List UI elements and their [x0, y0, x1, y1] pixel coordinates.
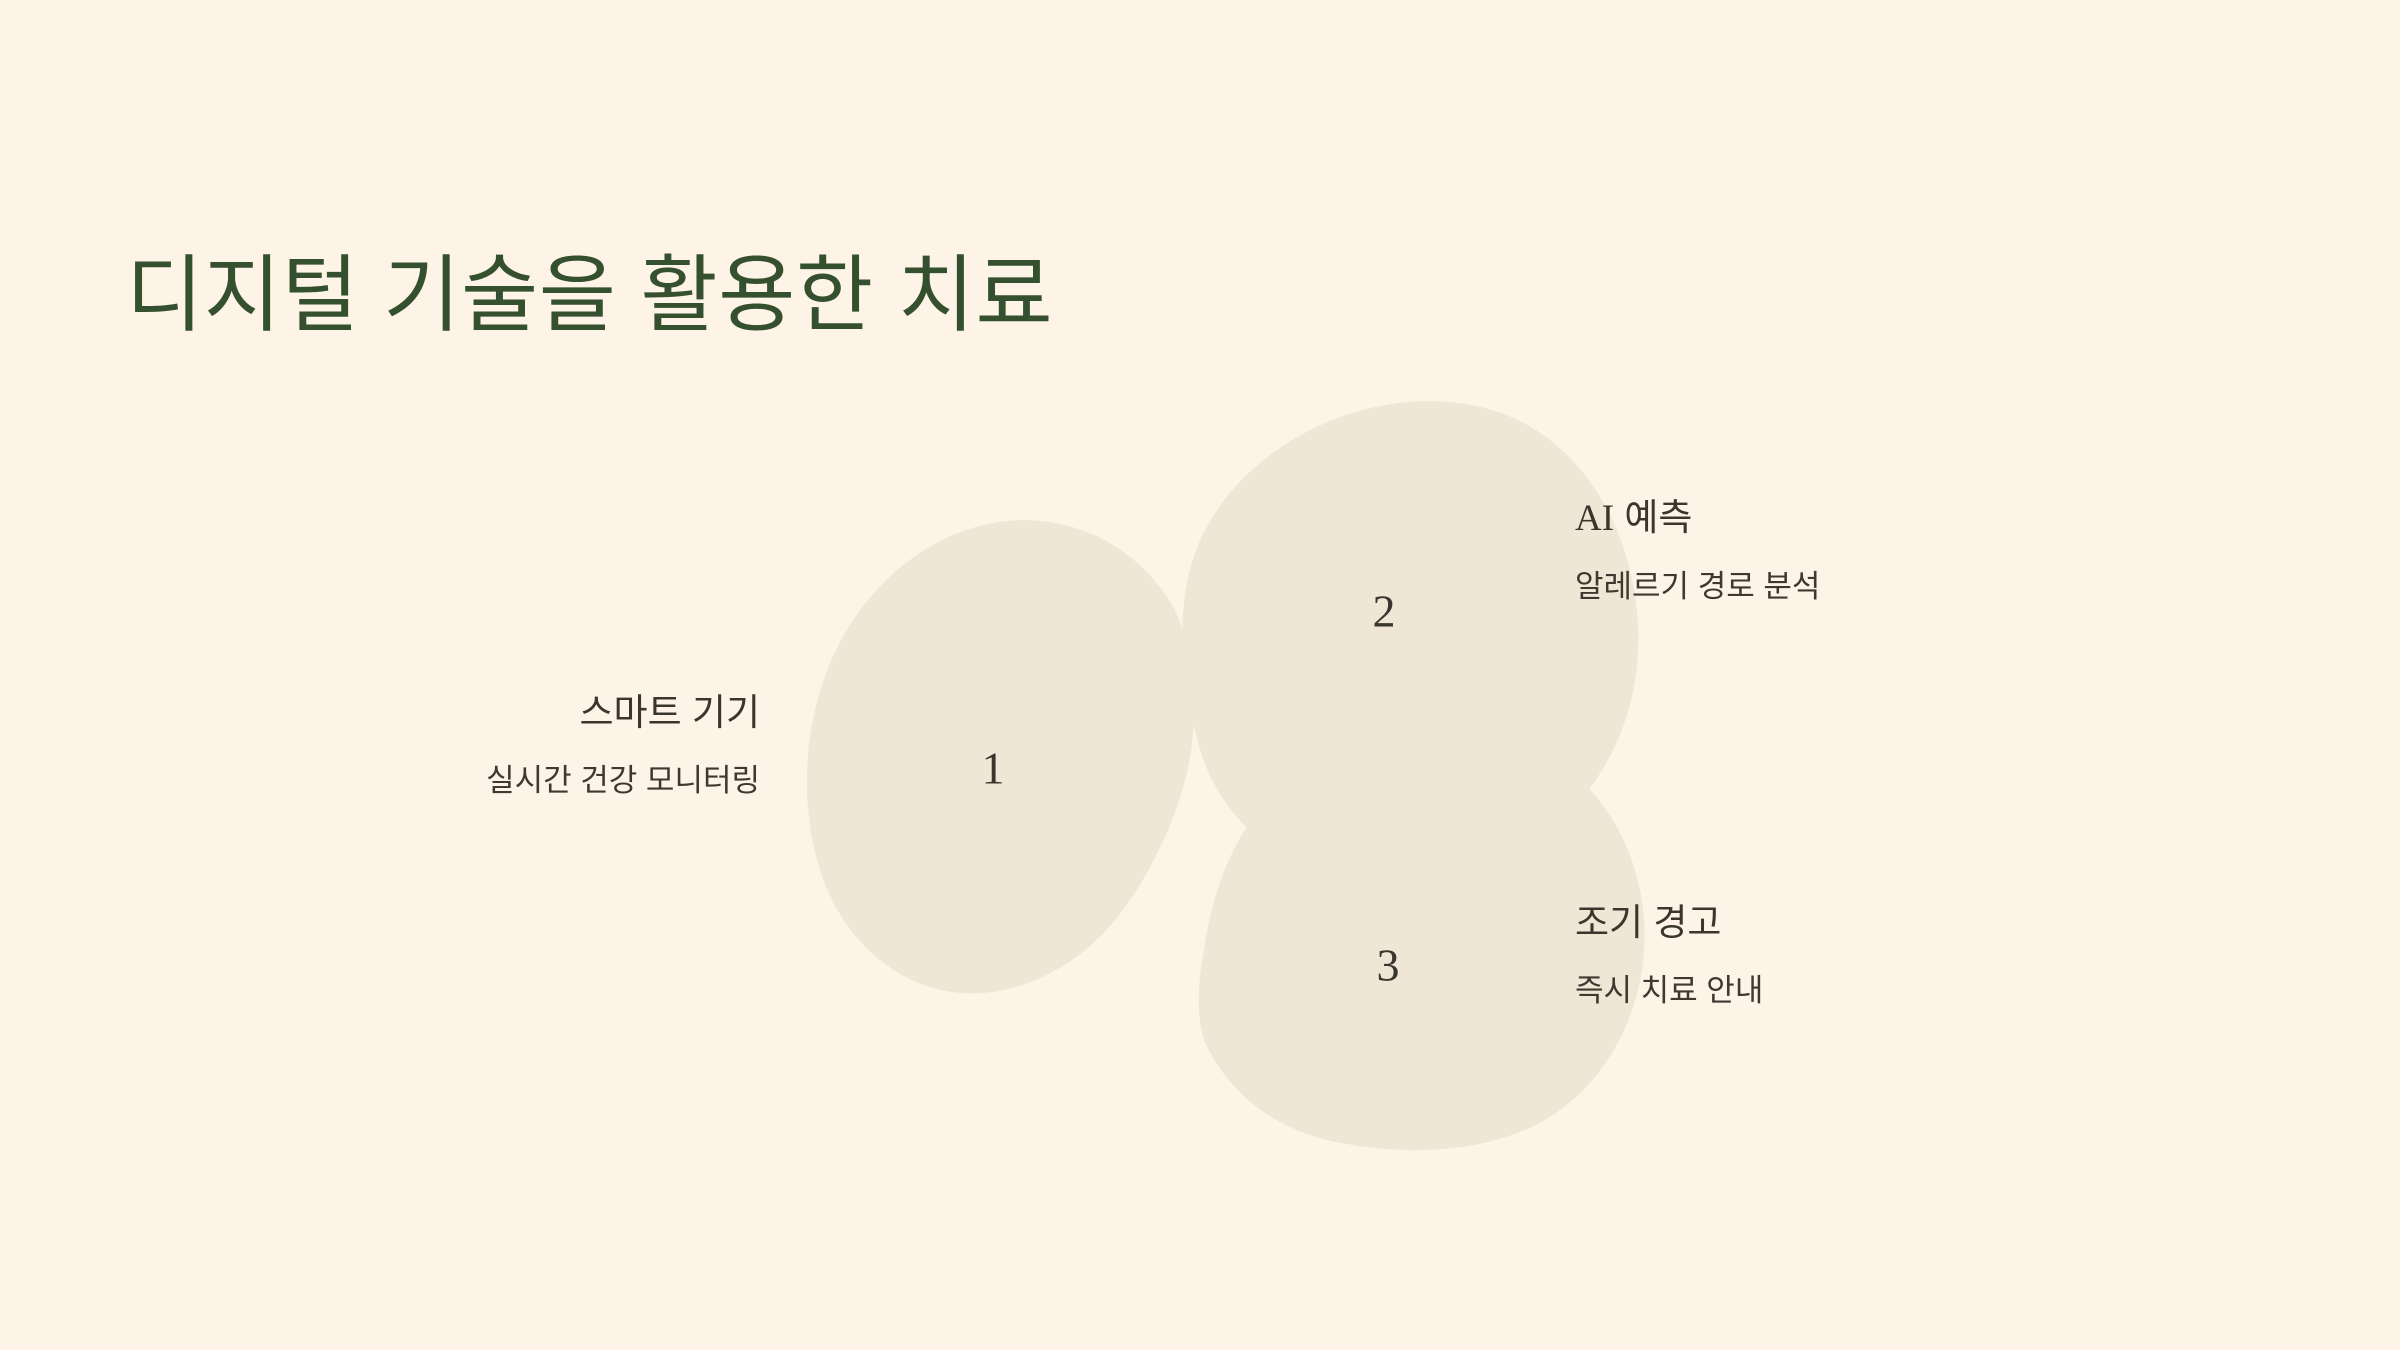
callout-3-title: 조기 경고 [1575, 900, 2175, 946]
callout-2-title-korean: 예측 [1614, 497, 1692, 538]
callout-1-subtitle: 실시간 건강 모니터링 [260, 762, 760, 801]
petal-number-1: 1 [982, 743, 1005, 794]
callout-petal-2: AI 예측 알레르기 경로 분석 [1575, 495, 2175, 607]
callout-2-title: AI 예측 [1575, 495, 2175, 542]
petal-number-3: 3 [1377, 940, 1400, 991]
callout-1-title: 스마트 기기 [260, 690, 760, 736]
callout-3-subtitle: 즉시 치료 안내 [1575, 972, 2175, 1011]
page-title: 디지털 기술을 활용한 치료 [126, 248, 1053, 342]
slide-canvas: 디지털 기술을 활용한 치료 1 2 3 스마트 기기 실시간 건강 모니터링 … [0, 0, 2400, 1350]
petal-number-2: 2 [1373, 586, 1396, 637]
petal-diagram: 1 2 3 [780, 360, 1600, 1200]
callout-petal-1: 스마트 기기 실시간 건강 모니터링 [260, 690, 760, 801]
callout-2-title-latin: AI [1575, 498, 1614, 539]
callout-2-subtitle: 알레르기 경로 분석 [1575, 568, 2175, 607]
callout-petal-3: 조기 경고 즉시 치료 안내 [1575, 900, 2175, 1011]
